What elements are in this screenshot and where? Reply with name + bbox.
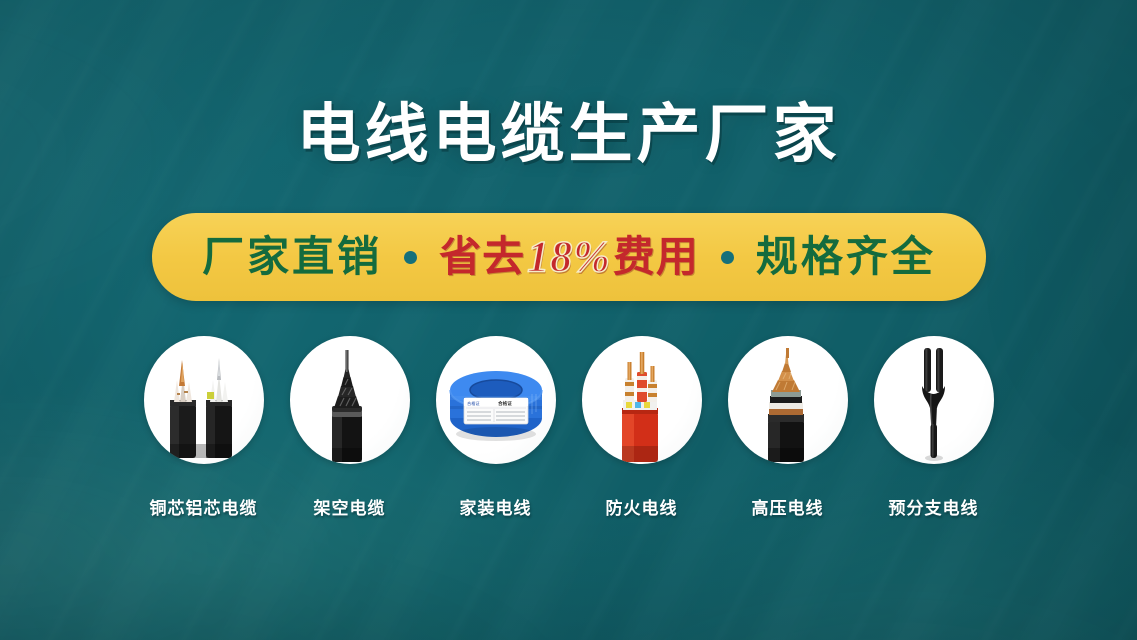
pre-branched-cable-icon bbox=[874, 336, 994, 464]
product-item: 合格证 合格证 bbox=[436, 336, 556, 519]
svg-text:合格证: 合格证 bbox=[498, 400, 512, 407]
bullet-dot-left-icon bbox=[404, 251, 417, 264]
product-label: 高压电线 bbox=[752, 494, 824, 519]
product-label: 架空电缆 bbox=[314, 494, 386, 519]
silk-highlight-overlay bbox=[0, 0, 1137, 640]
product-label: 预分支电线 bbox=[889, 494, 979, 519]
product-item[interactable]: 预分支电线 bbox=[874, 336, 994, 519]
highlight-percent: 18% bbox=[525, 235, 613, 279]
overhead-cable-icon bbox=[290, 336, 410, 464]
page-title: 电线电缆生产厂家 bbox=[0, 98, 1137, 170]
product-item[interactable]: 防火电线 bbox=[582, 336, 702, 519]
promo-banner: 厂家直销 省去18%费用 规格齐全 bbox=[152, 213, 986, 301]
highlight-prefix: 省去 bbox=[439, 236, 525, 278]
house-wiring-coil-icon: 合格证 合格证 bbox=[436, 336, 556, 464]
banner-right-text: 规格齐全 bbox=[756, 236, 936, 278]
product-image bbox=[290, 336, 410, 464]
bullet-dot-right-icon bbox=[721, 251, 734, 264]
banner-left-text: 厂家直销 bbox=[202, 236, 382, 278]
product-label: 家装电线 bbox=[460, 494, 532, 519]
product-image bbox=[874, 336, 994, 464]
svg-text:合格证: 合格证 bbox=[467, 400, 480, 407]
product-label: 铜芯铝芯电缆 bbox=[150, 494, 258, 519]
product-list: 铜芯铝芯电缆 bbox=[0, 336, 1137, 519]
promo-poster: 电线电缆生产厂家 厂家直销 省去18%费用 规格齐全 bbox=[0, 0, 1137, 640]
product-item[interactable]: 铜芯铝芯电缆 bbox=[144, 336, 264, 519]
product-item[interactable]: 高压电线 bbox=[728, 336, 848, 519]
product-label: 防火电线 bbox=[606, 494, 678, 519]
copper-aluminium-core-cable-icon bbox=[144, 336, 264, 464]
product-image bbox=[728, 336, 848, 464]
product-image bbox=[582, 336, 702, 464]
fireproof-cable-icon bbox=[582, 336, 702, 464]
high-voltage-cable-icon bbox=[728, 336, 848, 464]
product-image bbox=[144, 336, 264, 464]
product-image: 合格证 合格证 bbox=[436, 336, 556, 464]
highlight-suffix: 费用 bbox=[613, 236, 699, 278]
banner-highlight-text: 省去18%费用 bbox=[439, 235, 699, 279]
product-item[interactable]: 架空电缆 bbox=[290, 336, 410, 519]
